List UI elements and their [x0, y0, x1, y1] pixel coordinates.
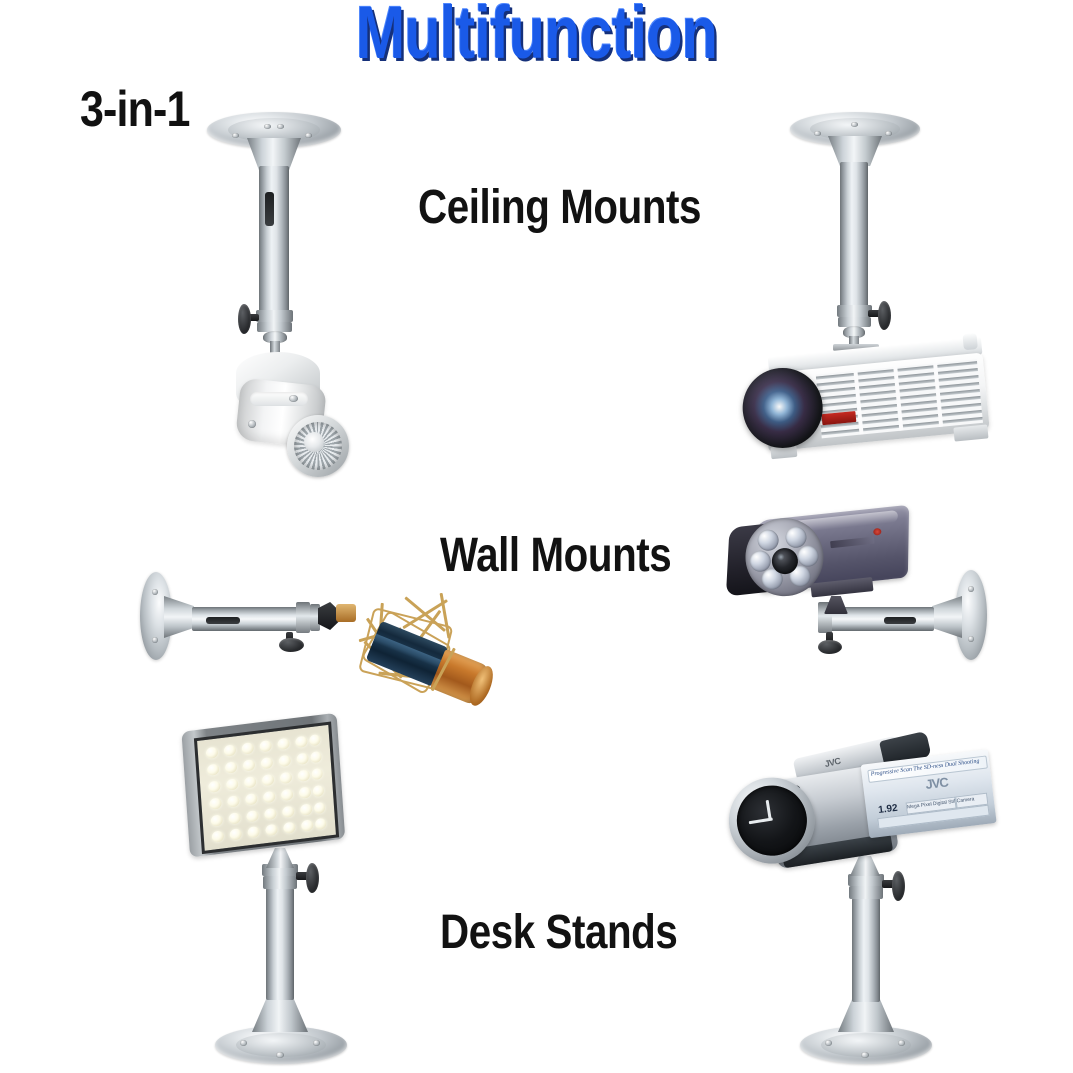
mount-screw-hole [968, 636, 974, 642]
housing-screw [289, 395, 298, 402]
housing-screw [248, 420, 256, 428]
mount-cone-collar [164, 596, 194, 638]
mount-screw-hole [152, 637, 158, 643]
projector-unit [731, 326, 999, 468]
mount-screw-hole [851, 122, 858, 127]
arm-adjustment-slot [884, 617, 916, 624]
tube-knurled-collar [256, 310, 293, 322]
label-ceiling-mounts: Ceiling Mounts [418, 180, 701, 235]
security-camera-unit [718, 490, 929, 630]
label-wall-mounts: Wall Mounts [440, 528, 671, 583]
label-desk-stands: Desk Stands [440, 905, 677, 960]
mount-screw-hole [305, 133, 312, 138]
projector-foot [953, 424, 988, 441]
mount-screw-hole [152, 589, 158, 595]
mount-screw-hole [861, 1052, 869, 1058]
mount-screw-hole [885, 131, 892, 136]
tube-knurled-collar [263, 876, 297, 889]
mount-cone-collar [932, 596, 962, 638]
badge-3-in-1: 3-in-1 [80, 80, 190, 138]
microphone-assembly [331, 603, 522, 750]
camcorder-lcd-panel[interactable]: Progressive Scan The SD-ness Dual Shooti… [861, 749, 997, 838]
lcd-brand-label: JVC [925, 774, 949, 792]
tilt-lock-knob[interactable] [892, 871, 905, 901]
spotlight-yoke-bracket [250, 392, 308, 406]
mount-cone-collar [838, 998, 894, 1032]
arm-adjustment-slot [206, 617, 240, 624]
tilt-lock-knob[interactable] [279, 638, 304, 652]
page-title: Multifunction [107, 0, 965, 72]
mount-screw-hole [232, 133, 239, 138]
infographic-canvas: Multifunction 3-in-1 Ceiling Mounts Wall… [0, 0, 1073, 1073]
mount-screw-hole [264, 124, 271, 129]
tube-knurled-collar [849, 886, 883, 899]
mount-screw-hole [814, 131, 821, 136]
lcd-megapixel-value: 1.92 [878, 803, 899, 816]
shockmount-stem [336, 604, 356, 622]
mount-screw-hole [313, 1040, 320, 1046]
tube-knurled-collar [837, 305, 872, 317]
tilt-lock-knob[interactable] [818, 640, 842, 654]
mount-screw-hole [825, 1040, 832, 1046]
tilt-lock-knob[interactable] [878, 301, 891, 330]
mount-extension-tube [259, 166, 289, 316]
mount-screw-hole [898, 1040, 905, 1046]
mount-extension-tube [840, 162, 868, 310]
projector-focus-knob [962, 333, 977, 350]
mount-screw-hole [277, 124, 284, 129]
arm-knurled-collar [296, 602, 310, 633]
spotlight-lamp-core [304, 432, 324, 452]
led-panel-light [181, 713, 345, 862]
desk-stand-tube [852, 898, 880, 1002]
mount-screw-hole [240, 1040, 247, 1046]
camcorder-unit: JVC Progressive Scan The SD-ness Dual Sh… [705, 722, 1002, 894]
mount-cone-collar [252, 998, 308, 1032]
tilt-lock-knob[interactable] [306, 863, 319, 893]
desk-stand-tube [266, 888, 294, 1000]
tilt-lock-knob[interactable] [238, 304, 251, 334]
led-panel-diffuser [194, 722, 339, 855]
tube-adjustment-slot [265, 192, 274, 226]
mount-screw-hole [276, 1052, 284, 1058]
mount-screw-hole [968, 586, 974, 592]
